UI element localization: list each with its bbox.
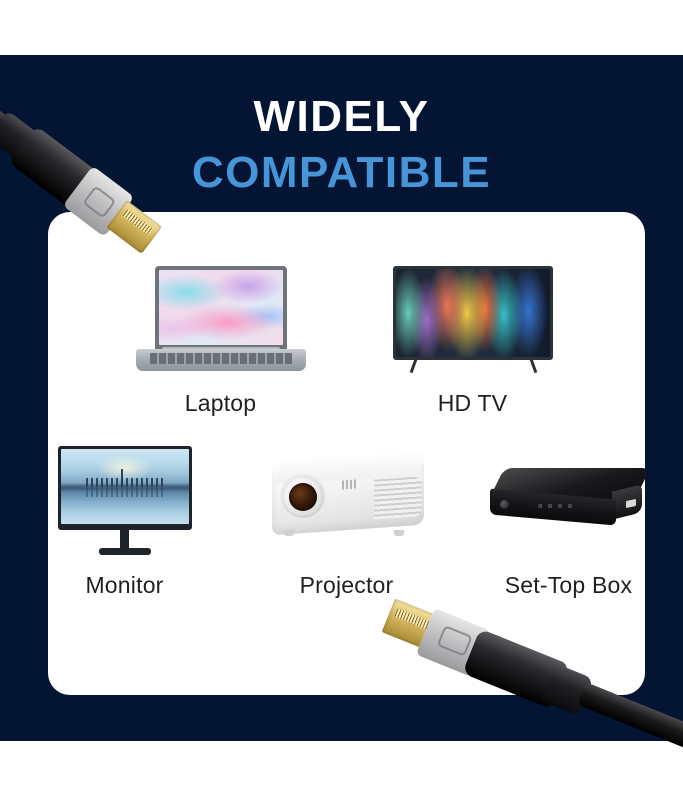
projector-lens-ring (282, 476, 324, 518)
projector-side-slot (342, 479, 356, 489)
device-label-hdtv: HD TV (438, 390, 508, 417)
tv-leg-right (529, 359, 537, 373)
monitor-skyline (86, 478, 163, 488)
projector-lens (289, 483, 317, 511)
monitor-skyline-reflection (86, 488, 163, 497)
set-top-box-icon (476, 444, 662, 562)
monitor-screen-content (61, 449, 189, 524)
projector-icon (254, 444, 440, 562)
tv-bezel (393, 266, 553, 360)
monitor-stand-neck (120, 529, 129, 549)
device-cell-projector: Projector (254, 444, 440, 599)
device-cell-hdtv: HD TV (380, 262, 566, 417)
tv-leg-left (409, 359, 417, 373)
projector-foot-right (394, 530, 404, 536)
monitor-icon (32, 444, 218, 562)
tv-screen-content (396, 269, 550, 357)
hdtv-icon (380, 262, 566, 380)
set-top-box-power-button (500, 500, 509, 509)
projector-foot-left (284, 530, 294, 536)
device-cell-monitor: Monitor (32, 444, 218, 599)
hdmi-connector-bottom-right (380, 588, 683, 748)
hdmi-cable-wire-bottom (577, 682, 683, 757)
laptop-base (136, 349, 306, 371)
hdmi-connector-top-left (0, 96, 210, 296)
device-label-laptop: Laptop (185, 390, 257, 417)
monitor-stand-base (99, 548, 151, 555)
monitor-bezel (58, 446, 192, 530)
set-top-box-indicator-leds (538, 504, 578, 508)
laptop-keyboard (150, 353, 292, 364)
device-cell-settopbox: Set-Top Box (476, 444, 662, 599)
product-marketing-poster: WIDELY COMPATIBLE Laptop (0, 0, 683, 800)
device-row-bottom: Monitor Projector (48, 444, 645, 599)
device-label-monitor: Monitor (85, 572, 163, 599)
projector-vents (374, 476, 422, 519)
